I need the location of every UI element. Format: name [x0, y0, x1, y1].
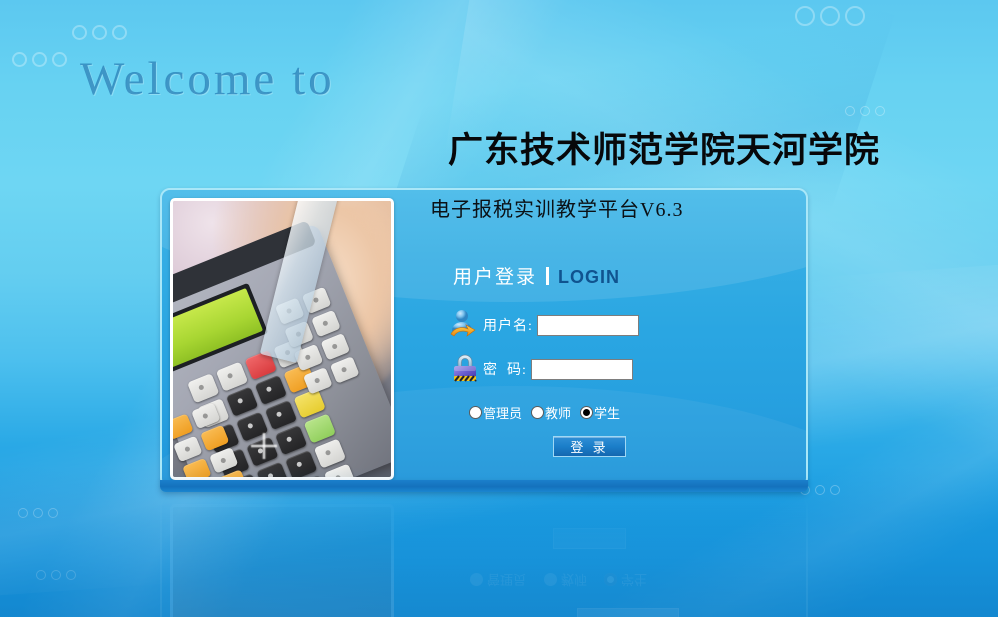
role-label-student: 学生	[594, 403, 620, 422]
photo-image	[173, 201, 391, 477]
panel-reflection: 管理员 教师 学生	[160, 496, 808, 617]
role-option-teacher[interactable]: 教师	[531, 403, 571, 422]
reflection-radio-admin	[470, 573, 483, 586]
login-button[interactable]: 登 录	[553, 436, 626, 457]
lock-icon	[447, 351, 483, 387]
reflection-radio-student	[604, 573, 617, 586]
radio-teacher[interactable]	[531, 406, 544, 419]
reflection-role-student: 学生	[621, 571, 647, 590]
password-row: 密 码:	[447, 347, 797, 391]
login-heading-cn: 用户登录	[453, 262, 537, 289]
heading-separator	[546, 267, 549, 285]
page-title: 广东技术师范学院天河学院	[448, 122, 880, 173]
reflection-photo	[170, 504, 394, 617]
welcome-text: Welcome to	[80, 52, 335, 106]
decorative-circles-left-upper	[72, 25, 127, 40]
sparkle-highlight	[251, 433, 277, 459]
decorative-circles-bottom-left-2	[36, 570, 76, 580]
login-page: Welcome to 广东技术师范学院天河学院 电子报税实训教学平台V6.3	[0, 0, 998, 617]
decorative-circles-mid-right	[845, 106, 885, 116]
reflection-radio-teacher	[544, 573, 557, 586]
radio-student[interactable]	[580, 406, 593, 419]
decorative-circles-top-right	[795, 6, 865, 26]
login-heading-en: LOGIN	[558, 267, 620, 288]
reflection-role-admin: 管理员	[487, 571, 526, 590]
role-option-student[interactable]: 学生	[580, 403, 620, 422]
reflection-password-field	[577, 608, 679, 617]
panel-base-bar	[160, 480, 808, 492]
role-label-admin: 管理员	[483, 403, 522, 422]
role-label-teacher: 教师	[545, 403, 571, 422]
login-panel: 电子报税实训教学平台V6.3	[160, 188, 808, 488]
password-label: 密 码:	[483, 359, 527, 379]
decorative-circles-bottom-left	[18, 508, 58, 518]
decorative-circles-left-lower	[12, 52, 67, 67]
username-label: 用户名:	[483, 315, 533, 335]
reflection-role-teacher: 教师	[561, 571, 587, 590]
username-row: 用户名:	[447, 303, 797, 347]
pos-terminal-photo	[170, 198, 394, 480]
reflection-panel: 管理员 教师 学生	[160, 496, 808, 617]
role-option-admin[interactable]: 管理员	[469, 403, 522, 422]
platform-title: 电子报税实训教学平台V6.3	[430, 193, 683, 222]
reflection-content: 管理员 教师 学生	[160, 496, 808, 617]
password-input[interactable]	[531, 359, 633, 380]
login-button-row: 登 录	[553, 436, 797, 457]
username-input[interactable]	[537, 315, 639, 336]
role-selector: 管理员 教师 学生	[469, 403, 797, 422]
radio-admin[interactable]	[469, 406, 482, 419]
user-icon	[447, 307, 483, 343]
login-form: 用户登录 LOGIN	[447, 262, 797, 457]
reflection-login-button	[553, 528, 626, 549]
login-heading: 用户登录 LOGIN	[453, 262, 797, 289]
